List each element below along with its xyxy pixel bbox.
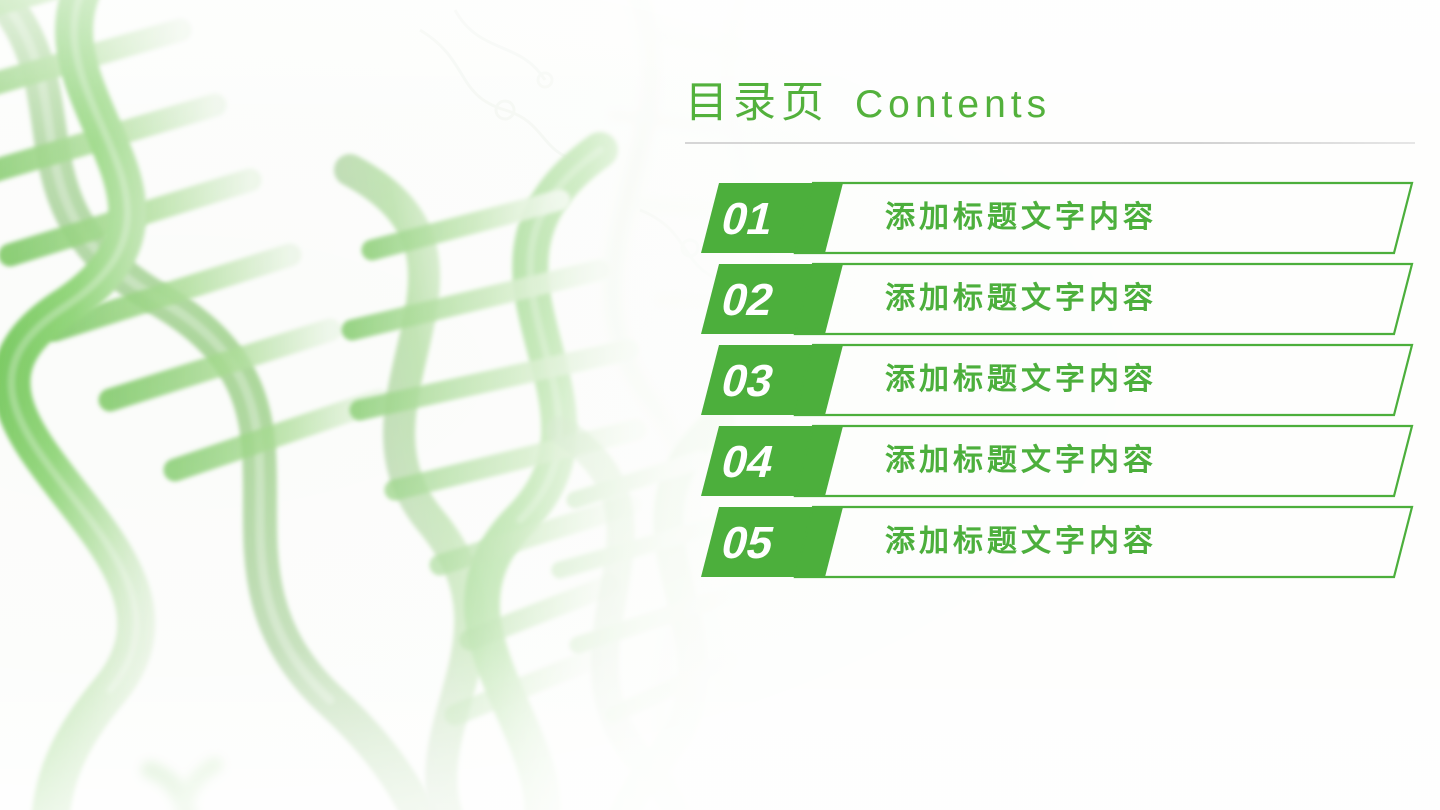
item-label-02: 添加标题文字内容	[885, 263, 1157, 335]
item-label-01: 添加标题文字内容	[885, 182, 1157, 254]
slide-header: 目录页 Contents	[685, 82, 1415, 138]
item-label-03: 添加标题文字内容	[885, 344, 1157, 416]
contents-item-01[interactable]: 01 添加标题文字内容	[685, 182, 1420, 254]
contents-item-04[interactable]: 04 添加标题文字内容	[685, 425, 1420, 497]
item-label-05: 添加标题文字内容	[885, 506, 1157, 578]
presentation-slide: 目录页 Contents 01 添加标题文字内容 02 添加标题文字内容	[0, 0, 1440, 810]
item-label-04: 添加标题文字内容	[885, 425, 1157, 497]
contents-item-05[interactable]: 05 添加标题文字内容	[685, 506, 1420, 578]
contents-list: 01 添加标题文字内容 02 添加标题文字内容 03 添加标题文字内容	[685, 182, 1420, 578]
contents-item-02[interactable]: 02 添加标题文字内容	[685, 263, 1420, 335]
title-divider	[685, 142, 1415, 144]
page-title: 目录页 Contents	[685, 82, 1415, 138]
contents-item-03[interactable]: 03 添加标题文字内容	[685, 344, 1420, 416]
page-title-cn: 目录页	[685, 82, 829, 125]
page-title-en: Contents	[855, 85, 1051, 124]
